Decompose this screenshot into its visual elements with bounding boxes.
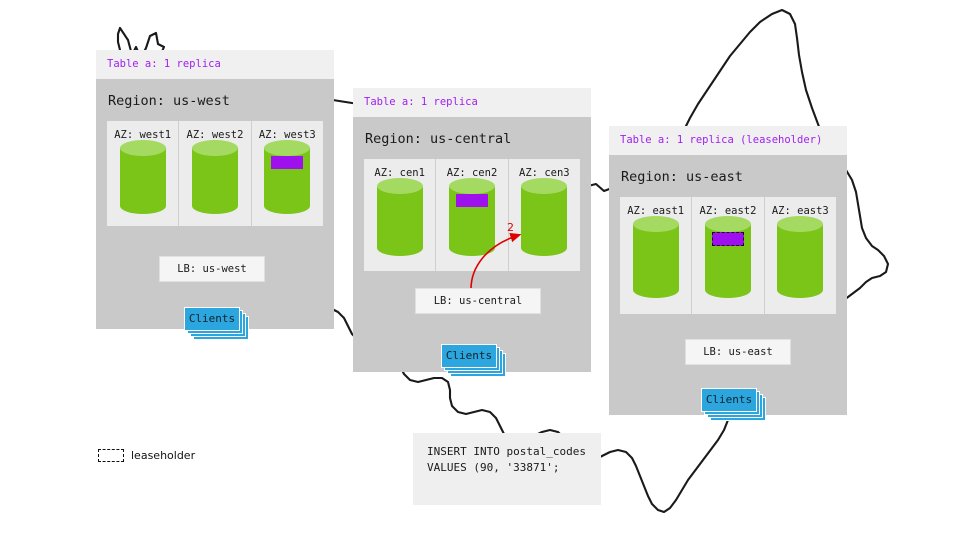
region-title-us-central: Region: us-central: [353, 117, 591, 159]
node-cylinder-east2[interactable]: [705, 224, 751, 290]
clients-button-us-central[interactable]: Clients: [441, 344, 497, 368]
az-label-cen2: AZ: cen2: [436, 167, 507, 179]
legend: leaseholder: [98, 449, 195, 462]
region-title-us-west: Region: us-west: [96, 79, 334, 121]
load-balancer-us-east[interactable]: LB: us-east: [685, 339, 791, 365]
node-cylinder-west1[interactable]: [120, 148, 166, 206]
region-title-us-east: Region: us-east: [609, 155, 847, 197]
az-cell-west1[interactable]: AZ: west1: [107, 121, 178, 226]
panel-header-us-west: Table a: 1 replica: [96, 50, 334, 79]
az-label-cen1: AZ: cen1: [364, 167, 435, 179]
region-panel-us-east: Table a: 1 replica (leaseholder) Region:…: [609, 126, 847, 415]
panel-body-us-west: Region: us-west AZ: west1 AZ: west2 AZ: …: [96, 79, 334, 329]
az-cell-cen2[interactable]: AZ: cen2: [435, 159, 507, 271]
node-cylinder-cen3[interactable]: [521, 186, 567, 248]
az-row-us-east: AZ: east1 AZ: east2 AZ: east3: [620, 197, 836, 314]
replica-block-leaseholder-east2[interactable]: [712, 232, 744, 246]
region-panel-us-central: Table a: 1 replica Region: us-central AZ…: [353, 88, 591, 372]
az-cell-cen3[interactable]: AZ: cen3: [508, 159, 580, 271]
panel-header-us-east: Table a: 1 replica (leaseholder): [609, 126, 847, 155]
region-panel-us-west: Table a: 1 replica Region: us-west AZ: w…: [96, 50, 334, 329]
az-row-us-central: AZ: cen1 AZ: cen2 AZ: cen3: [364, 159, 580, 271]
node-cylinder-cen1[interactable]: [377, 186, 423, 248]
az-cell-cen1[interactable]: AZ: cen1: [364, 159, 435, 271]
panel-body-us-east: Region: us-east AZ: east1 AZ: east2 AZ: …: [609, 155, 847, 415]
az-cell-east3[interactable]: AZ: east3: [764, 197, 836, 314]
node-cylinder-west3[interactable]: [264, 148, 310, 206]
az-cell-east1[interactable]: AZ: east1: [620, 197, 691, 314]
az-cell-west3[interactable]: AZ: west3: [251, 121, 323, 226]
az-label-west1: AZ: west1: [107, 129, 178, 141]
clients-button-us-east[interactable]: Clients: [701, 388, 757, 412]
clients-button-us-west[interactable]: Clients: [184, 307, 240, 331]
replica-block-west3[interactable]: [271, 156, 303, 169]
node-cylinder-east1[interactable]: [633, 224, 679, 290]
az-label-east1: AZ: east1: [620, 205, 691, 217]
arrow-step-label-2: 2: [507, 221, 514, 234]
load-balancer-us-central[interactable]: LB: us-central: [415, 288, 541, 314]
az-row-us-west: AZ: west1 AZ: west2 AZ: west3: [107, 121, 323, 226]
legend-label: leaseholder: [131, 449, 195, 462]
az-label-west2: AZ: west2: [179, 129, 250, 141]
dashed-rectangle-icon: [98, 449, 124, 462]
panel-body-us-central: Region: us-central AZ: cen1 AZ: cen2 AZ:…: [353, 117, 591, 372]
load-balancer-us-west[interactable]: LB: us-west: [159, 256, 265, 282]
clients-stack-us-west[interactable]: Clients: [184, 307, 240, 331]
panel-header-us-central: Table a: 1 replica: [353, 88, 591, 117]
az-cell-east2[interactable]: AZ: east2: [691, 197, 763, 314]
replica-block-cen2[interactable]: [456, 194, 488, 207]
node-cylinder-west2[interactable]: [192, 148, 238, 206]
sql-statement-box: INSERT INTO postal_codes VALUES (90, '33…: [413, 433, 601, 505]
node-cylinder-cen2[interactable]: [449, 186, 495, 248]
az-label-cen3: AZ: cen3: [509, 167, 580, 179]
az-label-west3: AZ: west3: [252, 129, 323, 141]
az-label-east3: AZ: east3: [765, 205, 836, 217]
clients-stack-us-central[interactable]: Clients: [441, 344, 497, 368]
node-cylinder-east3[interactable]: [777, 224, 823, 290]
diagram-canvas: Table a: 1 replica Region: us-west AZ: w…: [0, 0, 960, 540]
az-label-east2: AZ: east2: [692, 205, 763, 217]
az-cell-west2[interactable]: AZ: west2: [178, 121, 250, 226]
clients-stack-us-east[interactable]: Clients: [701, 388, 757, 412]
